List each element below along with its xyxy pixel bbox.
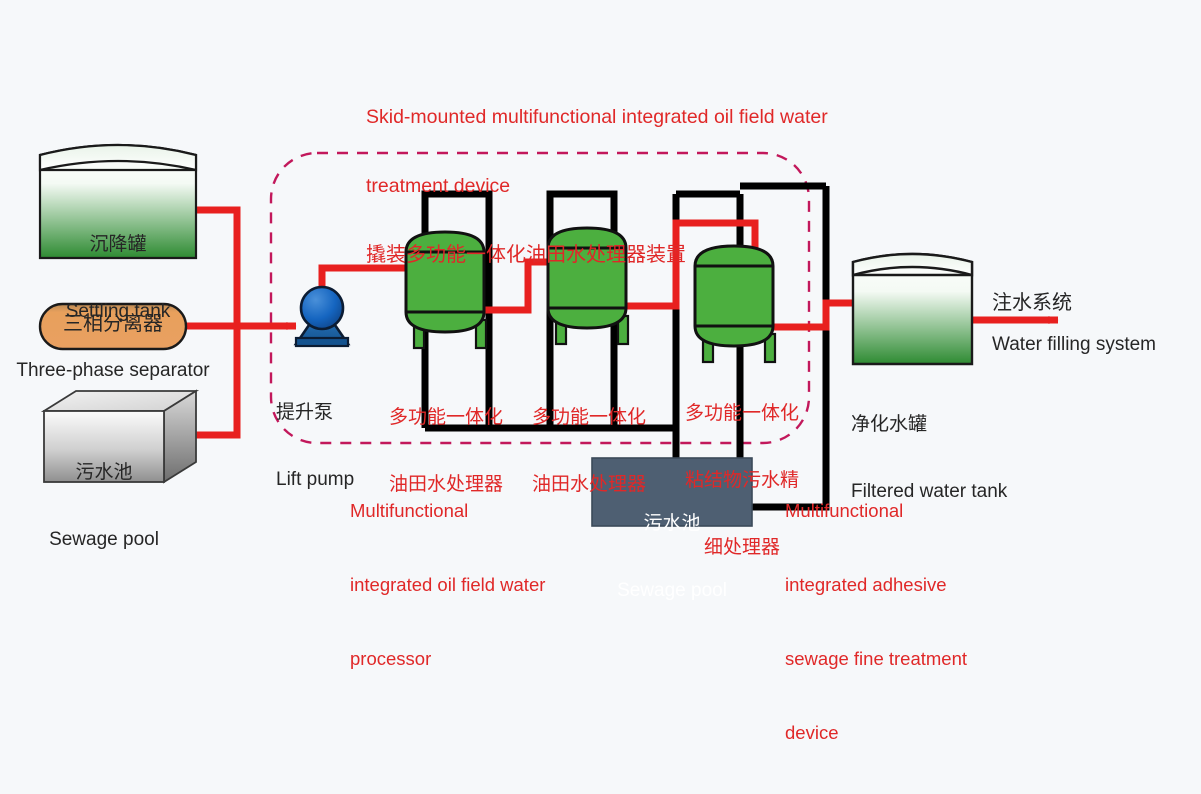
processor-3-label-cn-line-1: 多功能一体化 xyxy=(672,403,812,425)
processor-1-label-en-line-3: processor xyxy=(350,647,586,672)
title-line-2: treatment device xyxy=(366,175,936,198)
lift-pump xyxy=(296,287,348,346)
processor-3-label-en-line-4: device xyxy=(785,721,1011,746)
sewage-pool-center-label-cn: 污水池 xyxy=(592,513,752,535)
processor-3-label-en-line-2: integrated adhesive xyxy=(785,573,1011,598)
settling-tank-label: 沉降罐 Settling tank xyxy=(40,189,196,368)
sewage-pool-left-label: 污水池 Sewage pool xyxy=(44,417,164,596)
sewage-pool-center-label-en: Sewage pool xyxy=(592,580,752,602)
sewage-pool-left-label-cn: 污水池 xyxy=(44,462,164,484)
filtered-water-tank-label-cn: 净化水罐 xyxy=(851,414,1007,436)
sewage-pool-center-label: 污水池 Sewage pool xyxy=(592,468,752,647)
processor-1-label-en-line-2: integrated oil field water xyxy=(350,573,586,598)
title-line-3: 撬装多功能一体化油田水处理器装置 xyxy=(366,244,936,268)
processor-1-label-en: Multifunctional integrated oil field wat… xyxy=(350,450,586,721)
processor-2-label-cn-line-1: 多功能一体化 xyxy=(519,407,659,429)
three-phase-separator-label-cn: 三相分离器 xyxy=(40,313,186,337)
water-filling-system-label-cn: 注水系统 xyxy=(992,292,1072,316)
sewage-pool-left-label-en: Sewage pool xyxy=(44,529,164,551)
filtered-water-tank-label-en: Filtered water tank xyxy=(851,481,1007,503)
lift-pump-label-en: Lift pump xyxy=(276,469,354,491)
lift-pump-label: 提升泵 Lift pump xyxy=(276,357,354,536)
processor-3-label-en-line-3: sewage fine treatment xyxy=(785,647,1011,672)
process-flow-diagram: Skid-mounted multifunctional integrated … xyxy=(0,0,1201,567)
filtered-water-tank-label: 净化水罐 Filtered water tank xyxy=(851,369,1007,548)
title-line-1: Skid-mounted multifunctional integrated … xyxy=(366,106,936,129)
lift-pump-label-cn: 提升泵 xyxy=(276,402,354,424)
water-filling-system-label-en: Water filling system xyxy=(992,334,1156,356)
settling-tank-label-cn: 沉降罐 xyxy=(40,234,196,256)
processor-1-label-cn-line-1: 多功能一体化 xyxy=(376,407,516,429)
processor-1-label-en-line-1: Multifunctional xyxy=(350,499,586,524)
diagram-title: Skid-mounted multifunctional integrated … xyxy=(366,60,936,314)
three-phase-separator-label-en: Three-phase separator xyxy=(0,360,226,382)
